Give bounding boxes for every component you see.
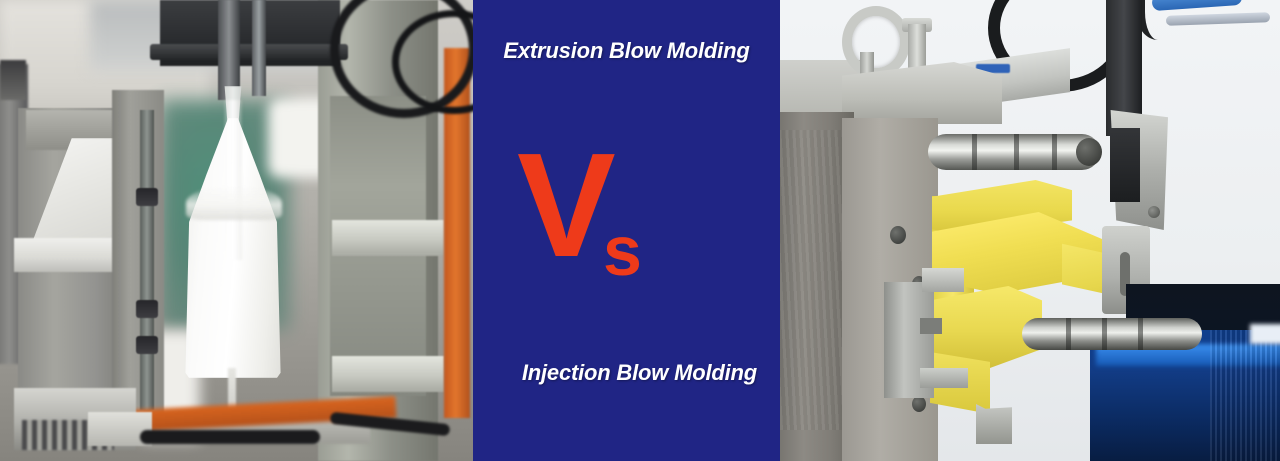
tie-bar-clamp-upper	[136, 188, 158, 206]
bottle-shoulder	[186, 186, 282, 220]
mold-insert-lower	[920, 368, 968, 388]
left-column-cap	[0, 60, 26, 100]
guide-pin-lower-groove-3	[1138, 318, 1143, 350]
vs-letter-v: V	[517, 132, 616, 280]
guide-pin-groove-1	[972, 134, 977, 170]
blow-pin-rod	[218, 0, 240, 100]
tie-bar-clamp-lower	[136, 336, 158, 354]
tie-bar	[140, 110, 154, 410]
machine-base-specular	[1250, 324, 1280, 344]
gantry-crossbar	[150, 44, 348, 60]
mold-platen-middle	[112, 90, 164, 430]
robot-arm-actuator	[1110, 128, 1140, 202]
tie-bar-clamp-middle	[136, 300, 158, 318]
bottle-parison-flash	[224, 100, 242, 260]
extrusion-blow-molding-photo	[0, 0, 473, 461]
injection-blow-molding-photo	[780, 0, 1280, 461]
guide-pin-lower	[1022, 318, 1202, 350]
ejector-pin-bracket	[976, 404, 1012, 444]
guide-pin-lower-groove-1	[1066, 318, 1071, 350]
robot-arm-pivot-bolt	[1148, 206, 1160, 218]
mold-slide-notch	[920, 318, 942, 334]
mold-bore-lower	[912, 396, 926, 412]
guide-pin-lower-groove-2	[1102, 318, 1107, 350]
right-machine-shelf-upper	[332, 220, 444, 256]
guide-pin-groove-2	[1014, 134, 1019, 170]
right-machine-shelf-lower	[332, 356, 444, 392]
lifting-eye-bolt-ring	[842, 6, 910, 78]
guide-rod	[252, 0, 266, 96]
black-hose-lower	[140, 430, 320, 444]
process-title-bottom: Injection Blow Molding	[522, 360, 757, 386]
vs-graphic: V s	[473, 132, 780, 292]
guide-pin-groove-3	[1052, 134, 1057, 170]
process-title-top: Extrusion Blow Molding	[473, 38, 780, 64]
machine-base-mesh-guard	[1210, 330, 1280, 461]
mold-bore-upper	[890, 226, 906, 244]
comparison-banner: Extrusion Blow Molding V s Injection Blo…	[0, 0, 1280, 461]
guide-pin-end-cap	[1076, 138, 1102, 166]
center-vs-panel: Extrusion Blow Molding V s Injection Blo…	[473, 0, 780, 461]
mold-insert-upper	[922, 268, 964, 292]
vs-letter-s: s	[603, 216, 642, 286]
